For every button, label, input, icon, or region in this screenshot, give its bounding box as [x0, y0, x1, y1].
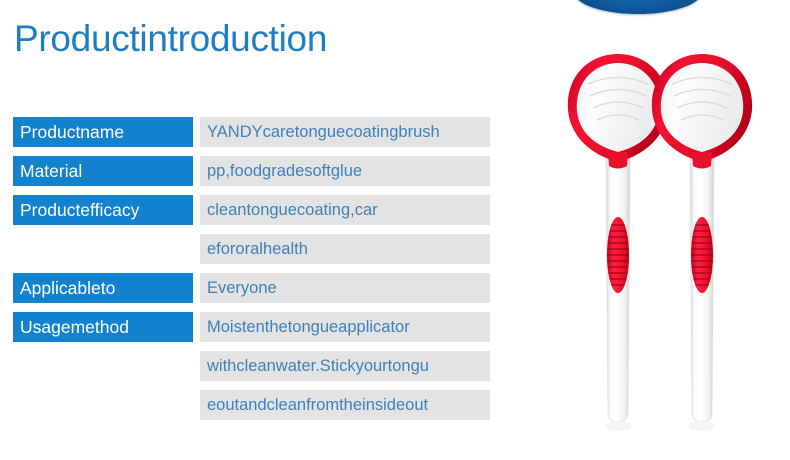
spec-label	[13, 351, 193, 381]
spec-value: cleantonguecoating,car	[200, 195, 490, 225]
table-row: Applicableto Everyone	[0, 273, 500, 303]
table-row: Usagemethod Moistenthetongueapplicator	[0, 312, 500, 342]
spec-label: Productefficacy	[13, 195, 193, 225]
spec-value: pp,foodgradesoftglue	[200, 156, 490, 186]
spec-label: Material	[13, 156, 193, 186]
spec-value: eoutandcleanfromtheinsideout	[200, 390, 490, 420]
tongue-brush-right	[642, 40, 762, 440]
decorative-blue-arc	[574, 0, 702, 14]
table-row: withcleanwater.Stickyourtongu	[0, 351, 500, 381]
table-row: Productefficacy cleantonguecoating,car	[0, 195, 500, 225]
table-row: eoutandcleanfromtheinsideout	[0, 390, 500, 420]
spec-value: Moistenthetongueapplicator	[200, 312, 490, 342]
page-title: Productintroduction	[14, 18, 327, 60]
handle-shadow	[689, 421, 715, 431]
spec-value: efororalhealth	[200, 234, 490, 264]
spec-label: Productname	[13, 117, 193, 147]
specification-table: Productname YANDYcaretonguecoatingbrush …	[0, 117, 500, 429]
product-introduction-page: Productintroduction Productname YANDYcar…	[0, 0, 790, 460]
spec-value: withcleanwater.Stickyourtongu	[200, 351, 490, 381]
rim-neck	[692, 152, 712, 169]
table-row: efororalhealth	[0, 234, 500, 264]
product-photo	[530, 40, 790, 460]
spec-label	[13, 390, 193, 420]
handle-shadow	[605, 421, 631, 431]
spec-value: Everyone	[200, 273, 490, 303]
spec-label: Usagemethod	[13, 312, 193, 342]
spec-label	[13, 234, 193, 264]
spec-label: Applicableto	[13, 273, 193, 303]
table-row: Material pp,foodgradesoftglue	[0, 156, 500, 186]
table-row: Productname YANDYcaretonguecoatingbrush	[0, 117, 500, 147]
rim-neck	[608, 152, 628, 169]
spec-value: YANDYcaretonguecoatingbrush	[200, 117, 490, 147]
